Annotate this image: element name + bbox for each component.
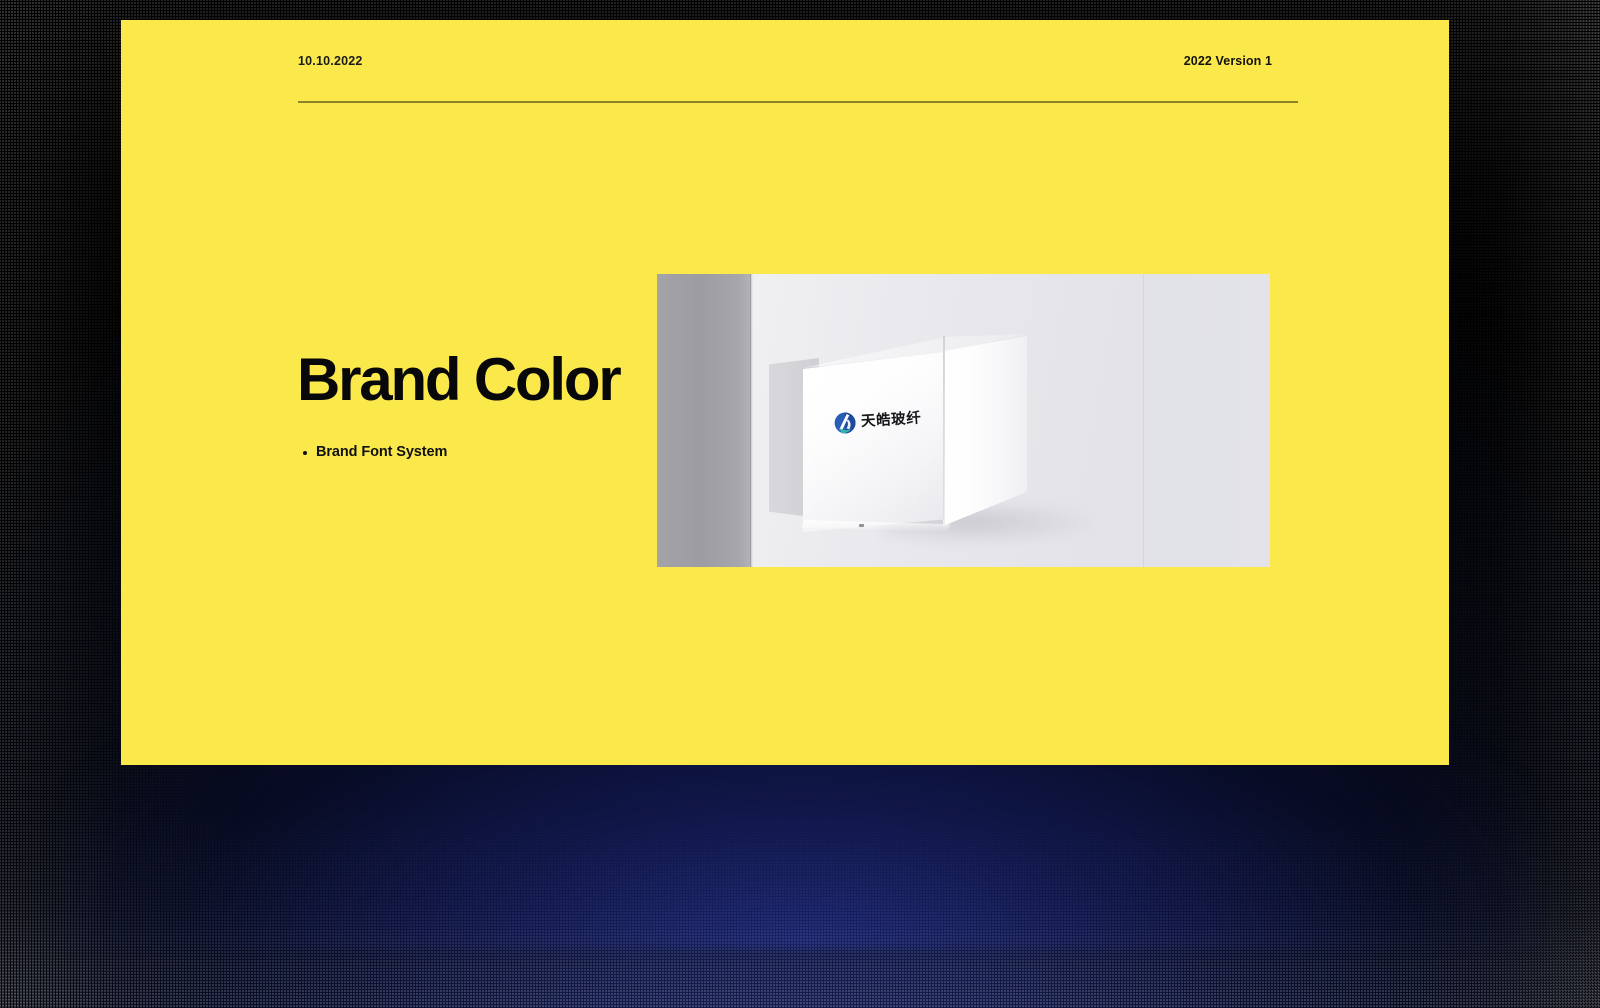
- header-divider: [298, 101, 1298, 103]
- brand-wordmark: 天皓玻纤: [861, 411, 922, 429]
- slide-version: 2022 Version 1: [1184, 54, 1272, 68]
- page-title: Brand Color: [297, 349, 619, 410]
- screenshot-stage: 10.10.2022 2022 Version 1 Brand Color Br…: [0, 0, 1600, 1008]
- cube-face-front-sheen: [803, 352, 944, 532]
- noise-fade-bottom: [0, 808, 1600, 1008]
- wall-panel-right: [1144, 274, 1270, 567]
- bullet-dot-icon: [303, 451, 307, 455]
- cube-mount-nub: [859, 524, 864, 527]
- slide-date: 10.10.2022: [298, 54, 363, 68]
- slide-header: 10.10.2022 2022 Version 1: [298, 54, 1272, 68]
- product-photo: 天皓玻纤: [657, 274, 1270, 567]
- subtitle-row: Brand Font System: [303, 444, 447, 460]
- cube-vertical-edge: [943, 336, 945, 528]
- wall-seam-line: [1143, 274, 1144, 567]
- cube-face-side: [943, 336, 1027, 526]
- wall-surface-left: [657, 274, 751, 567]
- presentation-slide: 10.10.2022 2022 Version 1 Brand Color Br…: [121, 20, 1449, 765]
- subtitle-label: Brand Font System: [316, 444, 447, 460]
- wall-corner-edge: [750, 274, 753, 567]
- illuminated-cube-sign: 天皓玻纤: [777, 324, 1037, 534]
- tianhao-circular-logo-icon: [833, 411, 856, 434]
